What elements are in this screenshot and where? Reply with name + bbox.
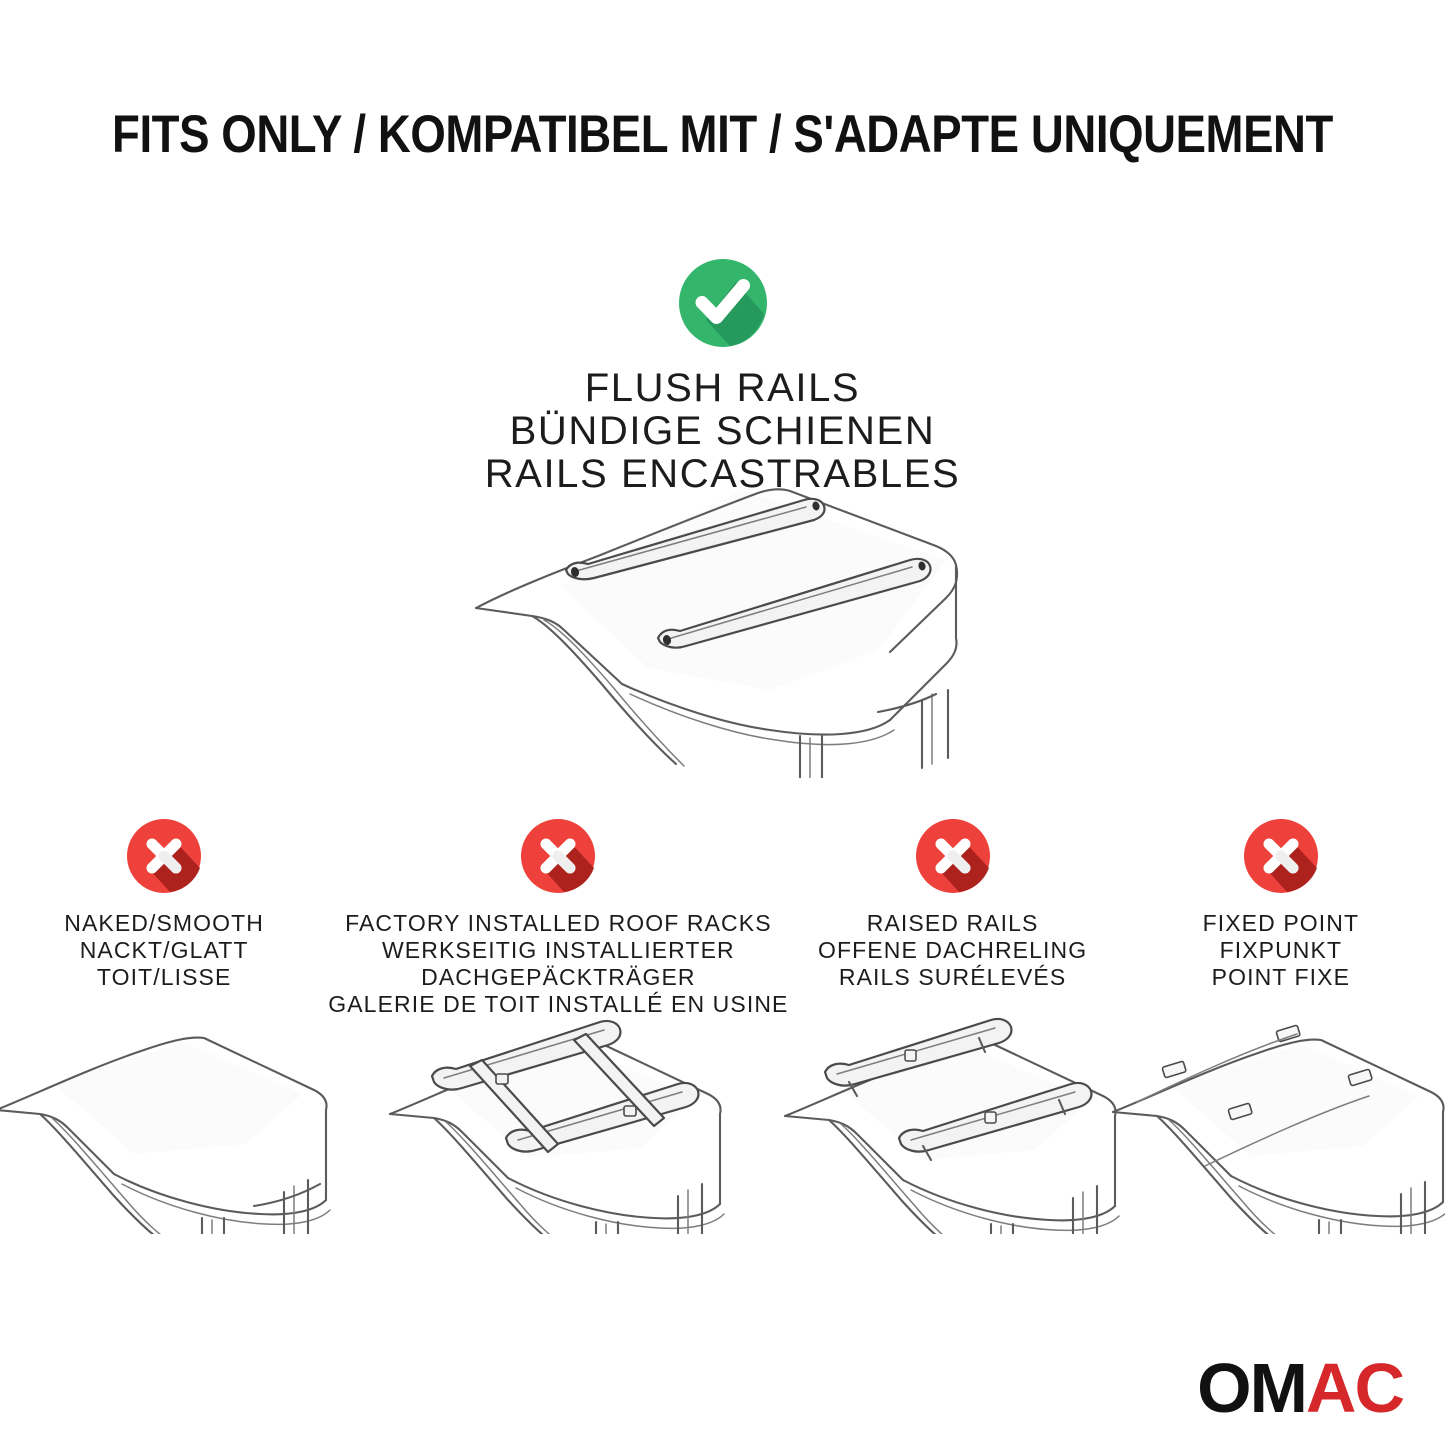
incompatible-item-naked-smooth: NAKED/SMOOTH NACKT/GLATT TOIT/LISSE (0, 818, 328, 1258)
x-circle-icon (915, 818, 991, 894)
label-en: RAISED RAILS (818, 910, 1087, 937)
x-circle-icon (520, 818, 596, 894)
label-de: FIXPUNKT (1203, 937, 1360, 964)
incompatible-labels: RAISED RAILS OFFENE DACHRELING RAILS SUR… (818, 910, 1087, 991)
incompatible-labels: FACTORY INSTALLED ROOF RACKS WERKSEITIG … (328, 910, 788, 1018)
logo-text-ac: AC (1306, 1349, 1403, 1427)
omac-logo: OMAC (1197, 1353, 1403, 1423)
car-roof-with-raised-rails-illustration (773, 1014, 1133, 1234)
label-en: FIXED POINT (1203, 910, 1360, 937)
incompatible-labels: NAKED/SMOOTH NACKT/GLATT TOIT/LISSE (64, 910, 264, 991)
car-roof-bare-illustration (0, 1014, 344, 1234)
label-en: NAKED/SMOOTH (64, 910, 264, 937)
incompatible-section: NAKED/SMOOTH NACKT/GLATT TOIT/LISSE (0, 818, 1445, 1258)
label-de-2: DACHGEPÄCKTRÄGER (328, 964, 788, 991)
label-de: OFFENE DACHRELING (818, 937, 1087, 964)
page-title: FITS ONLY / KOMPATIBEL MIT / S'ADAPTE UN… (101, 104, 1344, 165)
incompatible-labels: FIXED POINT FIXPUNKT POINT FIXE (1203, 910, 1360, 991)
compatibility-infographic: FITS ONLY / KOMPATIBEL MIT / S'ADAPTE UN… (0, 0, 1445, 1445)
label-en: FACTORY INSTALLED ROOF RACKS (328, 910, 788, 937)
incompatible-item-fixed-point: FIXED POINT FIXPUNKT POINT FIXE (1117, 818, 1445, 1258)
compatible-section: FLUSH RAILS BÜNDIGE SCHIENEN RAILS ENCAS… (0, 258, 1445, 496)
car-roof-with-rails-and-crossbars-illustration (378, 1014, 738, 1234)
car-roof-with-fixed-points-illustration (1101, 1014, 1445, 1234)
x-circle-icon (126, 818, 202, 894)
label-fr: TOIT/LISSE (64, 964, 264, 991)
incompatible-item-factory-installed-roof-racks: FACTORY INSTALLED ROOF RACKS WERKSEITIG … (328, 818, 788, 1258)
compatible-label-en: FLUSH RAILS (0, 367, 1445, 410)
compatible-label-de: BÜNDIGE SCHIENEN (0, 410, 1445, 453)
label-fr: POINT FIXE (1203, 964, 1360, 991)
label-fr: RAILS SURÉLEVÉS (818, 964, 1087, 991)
check-circle-icon (678, 258, 768, 348)
label-de-1: WERKSEITIG INSTALLIERTER (328, 937, 788, 964)
label-de: NACKT/GLATT (64, 937, 264, 964)
x-circle-icon (1243, 818, 1319, 894)
logo-text-om: OM (1197, 1349, 1306, 1427)
car-roof-with-flush-rails-illustration (470, 468, 1010, 778)
incompatible-item-raised-rails: RAISED RAILS OFFENE DACHRELING RAILS SUR… (788, 818, 1116, 1258)
